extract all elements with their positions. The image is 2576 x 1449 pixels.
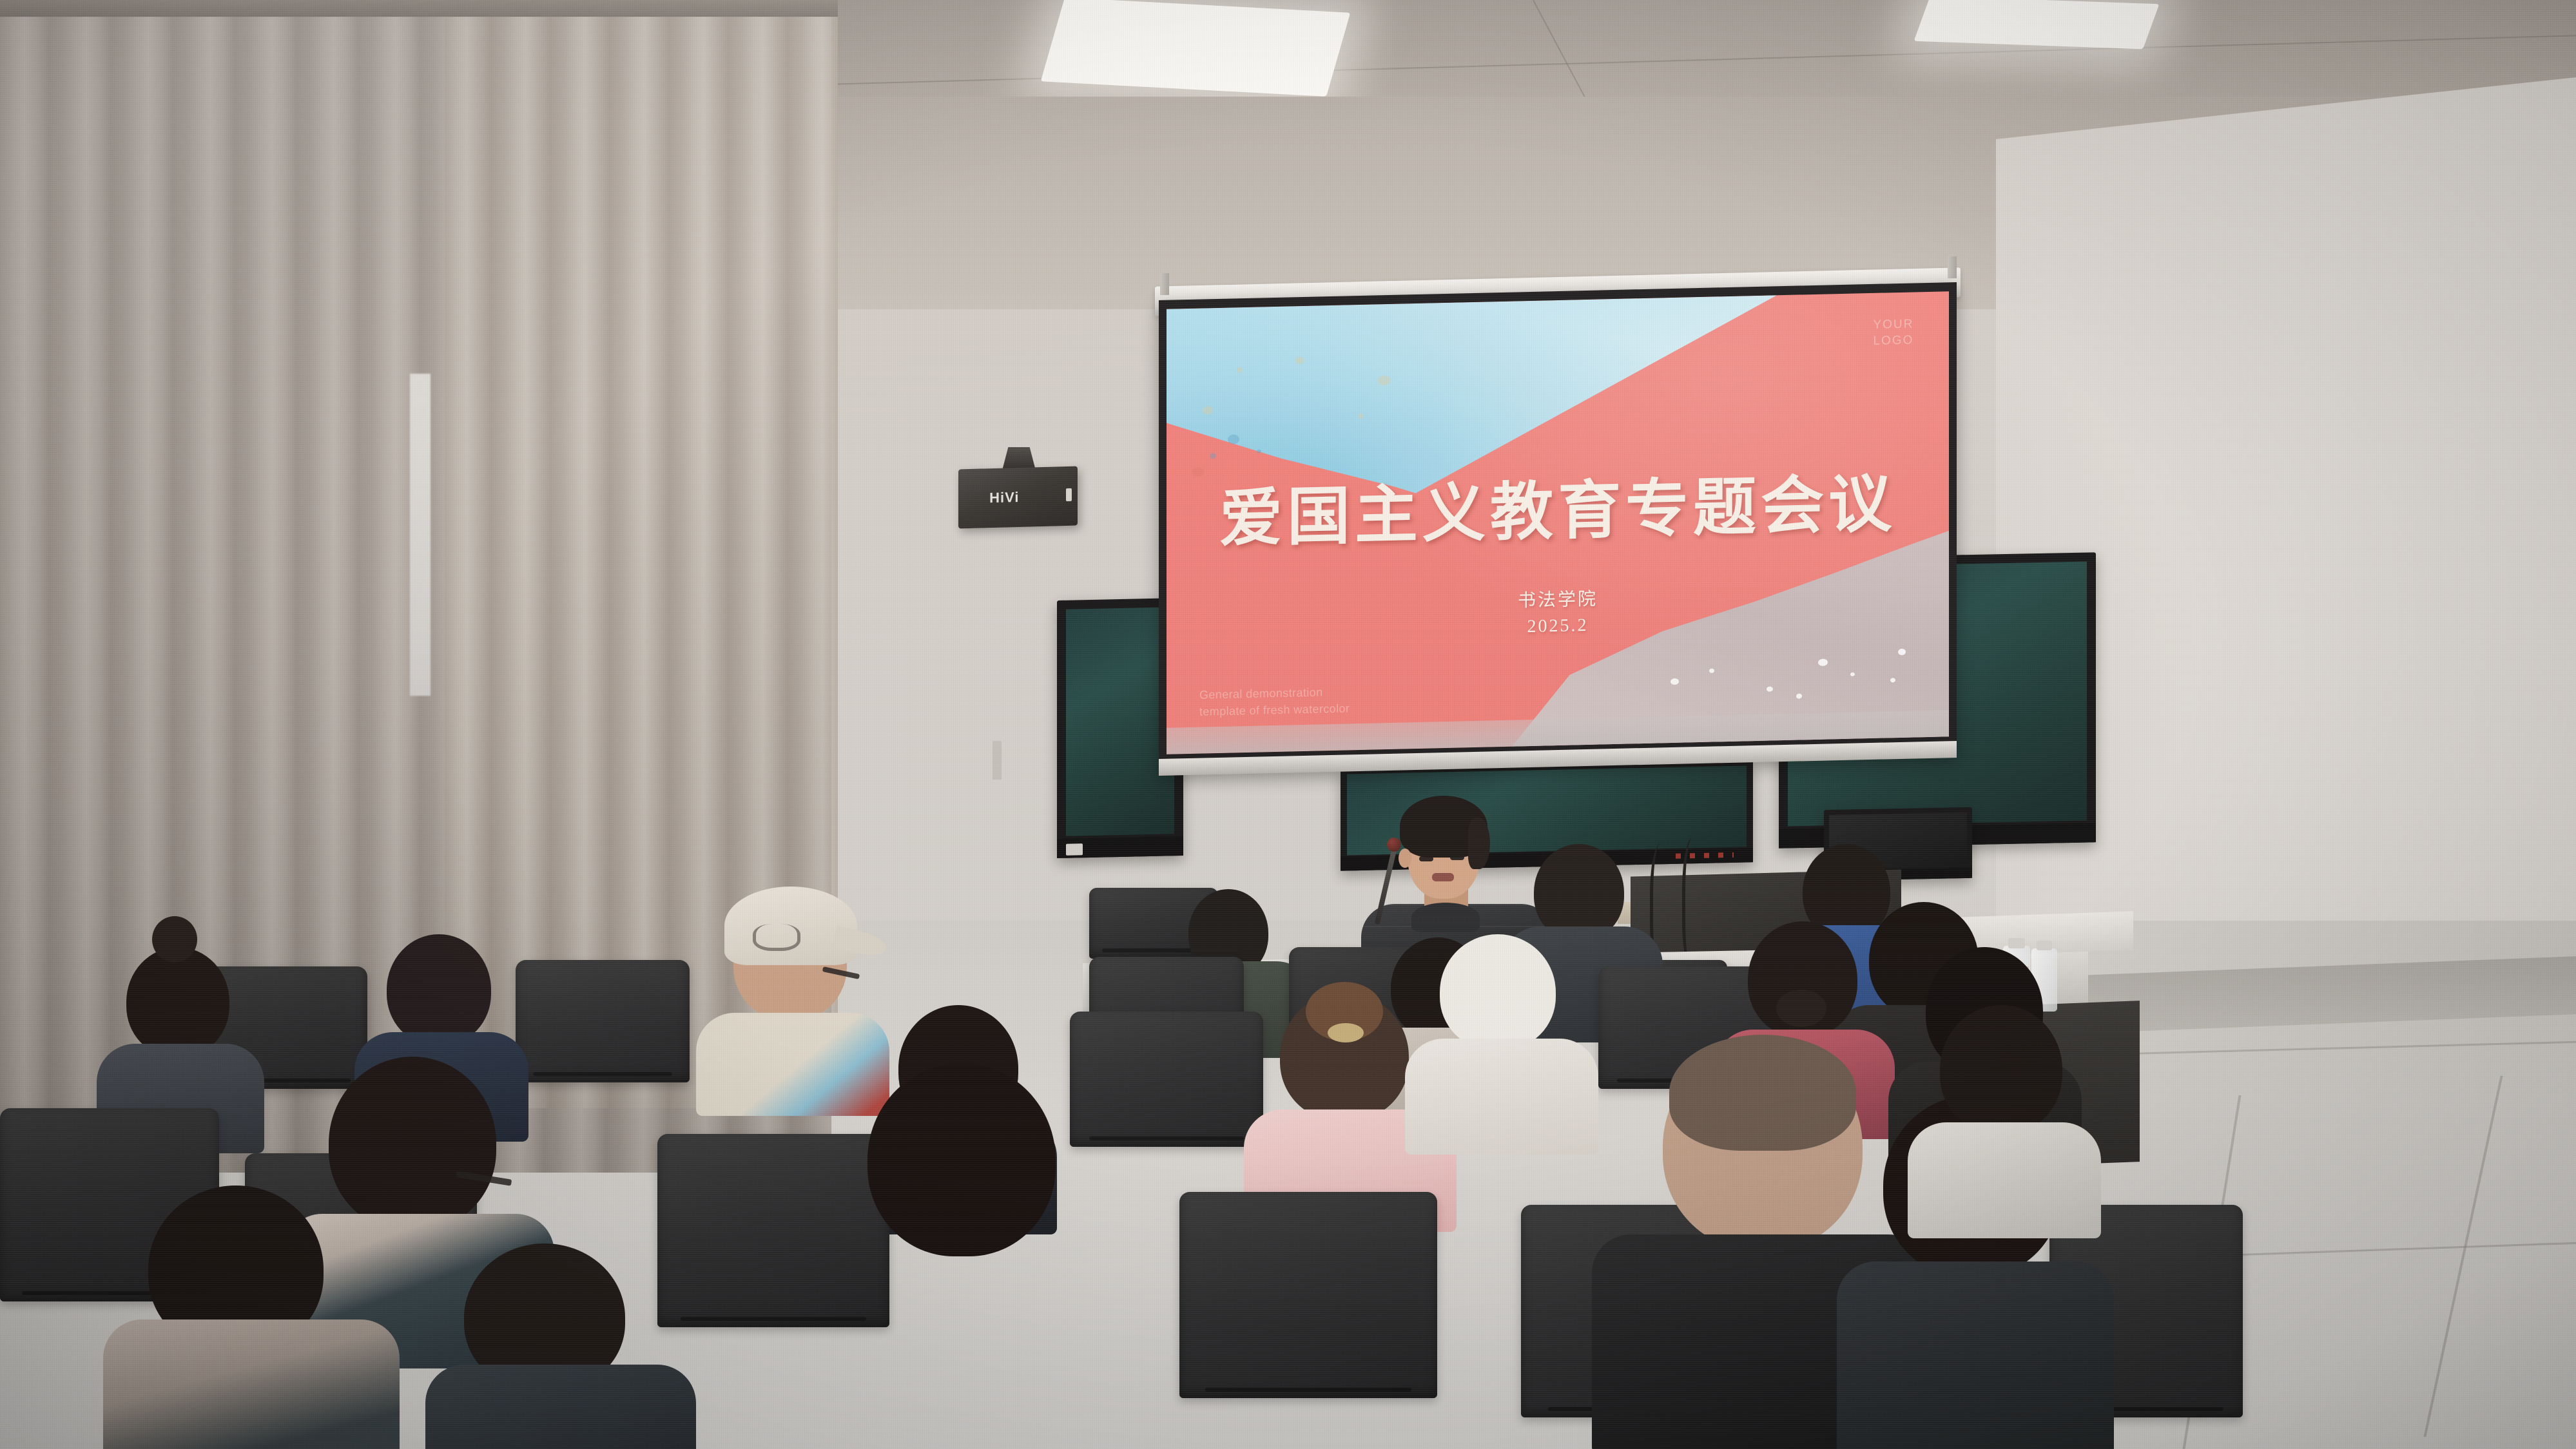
projection-screen: YOUR LOGO 爱国主义教育专题会议 书法学院 2025.2 General… [1159,282,1957,774]
watercolor-speck [1709,668,1714,673]
audience-member [103,1185,400,1449]
hair-ponytail [152,916,197,963]
person-head [1940,1005,2062,1134]
person-shoulders [1837,1262,2114,1449]
presenter-mouth [1432,873,1454,881]
person-shoulders [818,1241,1115,1408]
speaker-led-indicator [1066,488,1072,501]
watercolor-speck [1767,686,1773,691]
audience-member [818,1063,1115,1392]
audience-member [1405,934,1598,1147]
person-head [387,934,491,1045]
person-head [867,1063,1056,1256]
microphone-head [1387,838,1401,852]
seat[interactable] [1179,1192,1437,1398]
ceiling-light-panel [1914,0,2160,49]
screen-mount-bracket [1160,273,1169,295]
person-shoulders [103,1319,400,1449]
display-badge [1066,843,1083,856]
slide-logo-placeholder: YOUR LOGO [1873,316,1913,349]
person-shoulders [1908,1122,2101,1238]
presenter-collar [1411,903,1480,932]
curtain-rod [0,0,838,17]
slide-title: 爱国主义教育专题会议 [1167,472,1949,553]
display-screen [1066,607,1174,836]
presenter-ear [1399,849,1411,868]
audience-member [425,1243,696,1449]
conference-room-photo: HiVi [0,0,2576,1449]
slide-watermark-line2: template of fresh watercolor [1199,700,1350,720]
presentation-slide: YOUR LOGO 爱国主义教育专题会议 书法学院 2025.2 General… [1167,291,1949,754]
watercolor-splatter [1257,450,1261,454]
slide-watermark: General demonstration template of fresh … [1199,683,1350,720]
speaker-brand-label: HiVi [989,489,1019,506]
hair-bun [1776,990,1826,1027]
cap-strap [753,924,800,951]
person-head [126,947,229,1057]
screen-mount-bracket [1948,256,1957,278]
watercolor-splatter [1378,375,1391,385]
audience-member [1908,1005,2101,1224]
person-hair [1669,1035,1856,1151]
wall-conduit [993,741,1002,780]
presenter-hair-side [1468,818,1490,869]
watercolor-splatter [1228,434,1239,444]
wall-speaker: HiVi [958,466,1078,529]
hair-clip [1328,1023,1364,1042]
slide-logo-line1: YOUR [1873,316,1913,333]
person-hood [1440,934,1556,1050]
slide-logo-line2: LOGO [1873,332,1913,349]
person-shoulders [1405,1039,1598,1155]
ceiling-light-panel [1041,0,1351,97]
person-shoulders [425,1365,696,1449]
